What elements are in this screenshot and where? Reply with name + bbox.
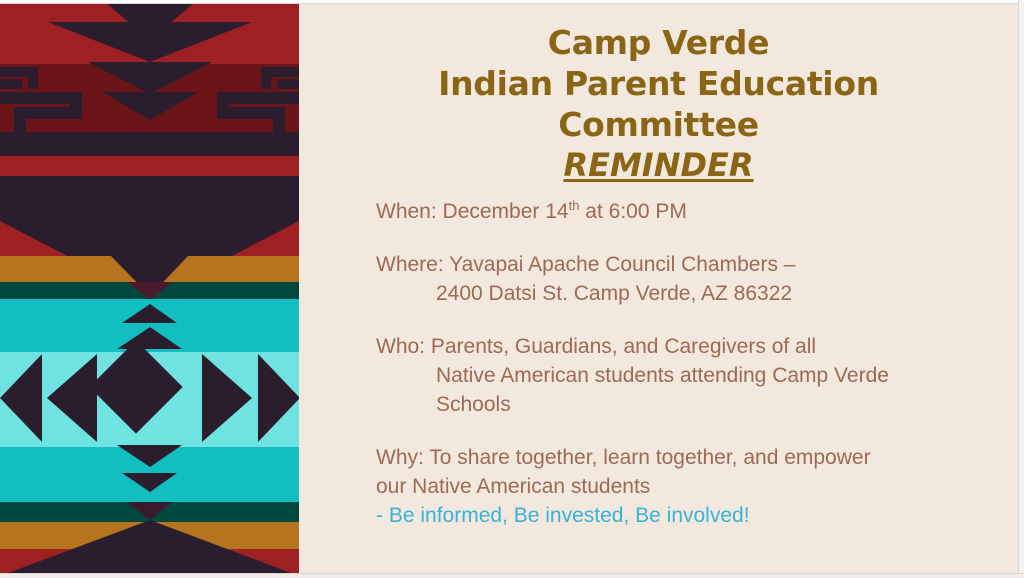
pattern-triangle-down-darkred-lower: [127, 502, 172, 520]
pattern-meander-right-arm-4: [217, 92, 299, 104]
pattern-band-navy-bar: [0, 132, 299, 156]
flyer-title-block: Camp Verde Indian Parent Education Commi…: [299, 4, 1018, 185]
pattern-triangle-up-small-1: [122, 304, 177, 323]
who-line-2: Native American students attending Camp …: [376, 361, 1006, 390]
pattern-triangle-right-1: [202, 354, 252, 442]
pattern-meander-left-arm-2: [28, 67, 38, 89]
southwest-textile-pattern: [0, 4, 299, 574]
when-superscript: th: [569, 198, 580, 213]
slide-frame-bottom-edge: [0, 573, 1024, 578]
who-paragraph: Who: Parents, Guardians, and Caregivers …: [376, 332, 1006, 419]
pattern-chevron-down-wide-top: [48, 22, 252, 62]
pattern-band-red-stripe: [0, 156, 299, 176]
who-line-1: Who: Parents, Guardians, and Caregivers …: [376, 332, 1006, 361]
pattern-triangle-left-1: [0, 354, 42, 442]
why-line-1: Why: To share together, learn together, …: [376, 443, 1006, 472]
where-line-2: 2400 Datsi St. Camp Verde, AZ 86322: [376, 279, 1006, 308]
when-prefix: When: December 14: [376, 200, 569, 223]
why-paragraph: Why: To share together, learn together, …: [376, 443, 1006, 530]
when-suffix: at 6:00 PM: [579, 200, 686, 223]
pattern-chevron-down-mid-2: [102, 92, 198, 120]
presentation-slide: Camp Verde Indian Parent Education Commi…: [0, 0, 1024, 578]
slogan-line: - Be informed, Be invested, Be involved!: [376, 501, 1006, 530]
title-line-3: Committee: [299, 104, 1018, 145]
pattern-meander-right-arm-3: [277, 79, 299, 89]
when-line: When: December 14th at 6:00 PM: [376, 197, 1006, 226]
pattern-triangle-down-small-1: [117, 445, 182, 467]
slide-frame-right-edge: [1018, 0, 1024, 578]
pattern-triangle-left-2: [47, 354, 97, 442]
pattern-navy-block-upper: [0, 176, 299, 221]
pattern-triangle-right-2: [258, 354, 299, 442]
pattern-triangle-down-small-2: [122, 473, 177, 492]
slide-frame-top-edge: [0, 0, 1024, 4]
title-line-2: Indian Parent Education: [299, 63, 1018, 104]
flyer-content: Camp Verde Indian Parent Education Commi…: [299, 4, 1018, 574]
flyer-body-block: When: December 14th at 6:00 PM Where: Ya…: [299, 185, 1018, 530]
title-line-1: Camp Verde: [299, 22, 1018, 63]
who-line-3: Schools: [376, 390, 1006, 419]
pattern-chevron-down-mid-1: [88, 62, 212, 94]
pattern-triangle-down-darkred: [127, 282, 172, 300]
pattern-meander-right-arm-2: [261, 67, 271, 89]
where-paragraph: Where: Yavapai Apache Council Chambers –…: [376, 250, 1006, 308]
when-paragraph: When: December 14th at 6:00 PM: [376, 197, 1006, 226]
why-line-2: our Native American students: [376, 472, 1006, 501]
pattern-meander-left-arm-3: [0, 79, 22, 89]
title-reminder: REMINDER: [299, 145, 1018, 185]
pattern-triangle-up-large: [0, 520, 299, 574]
where-line-1: Where: Yavapai Apache Council Chambers –: [376, 250, 1006, 279]
pattern-triangle-up-small-2: [117, 327, 182, 349]
